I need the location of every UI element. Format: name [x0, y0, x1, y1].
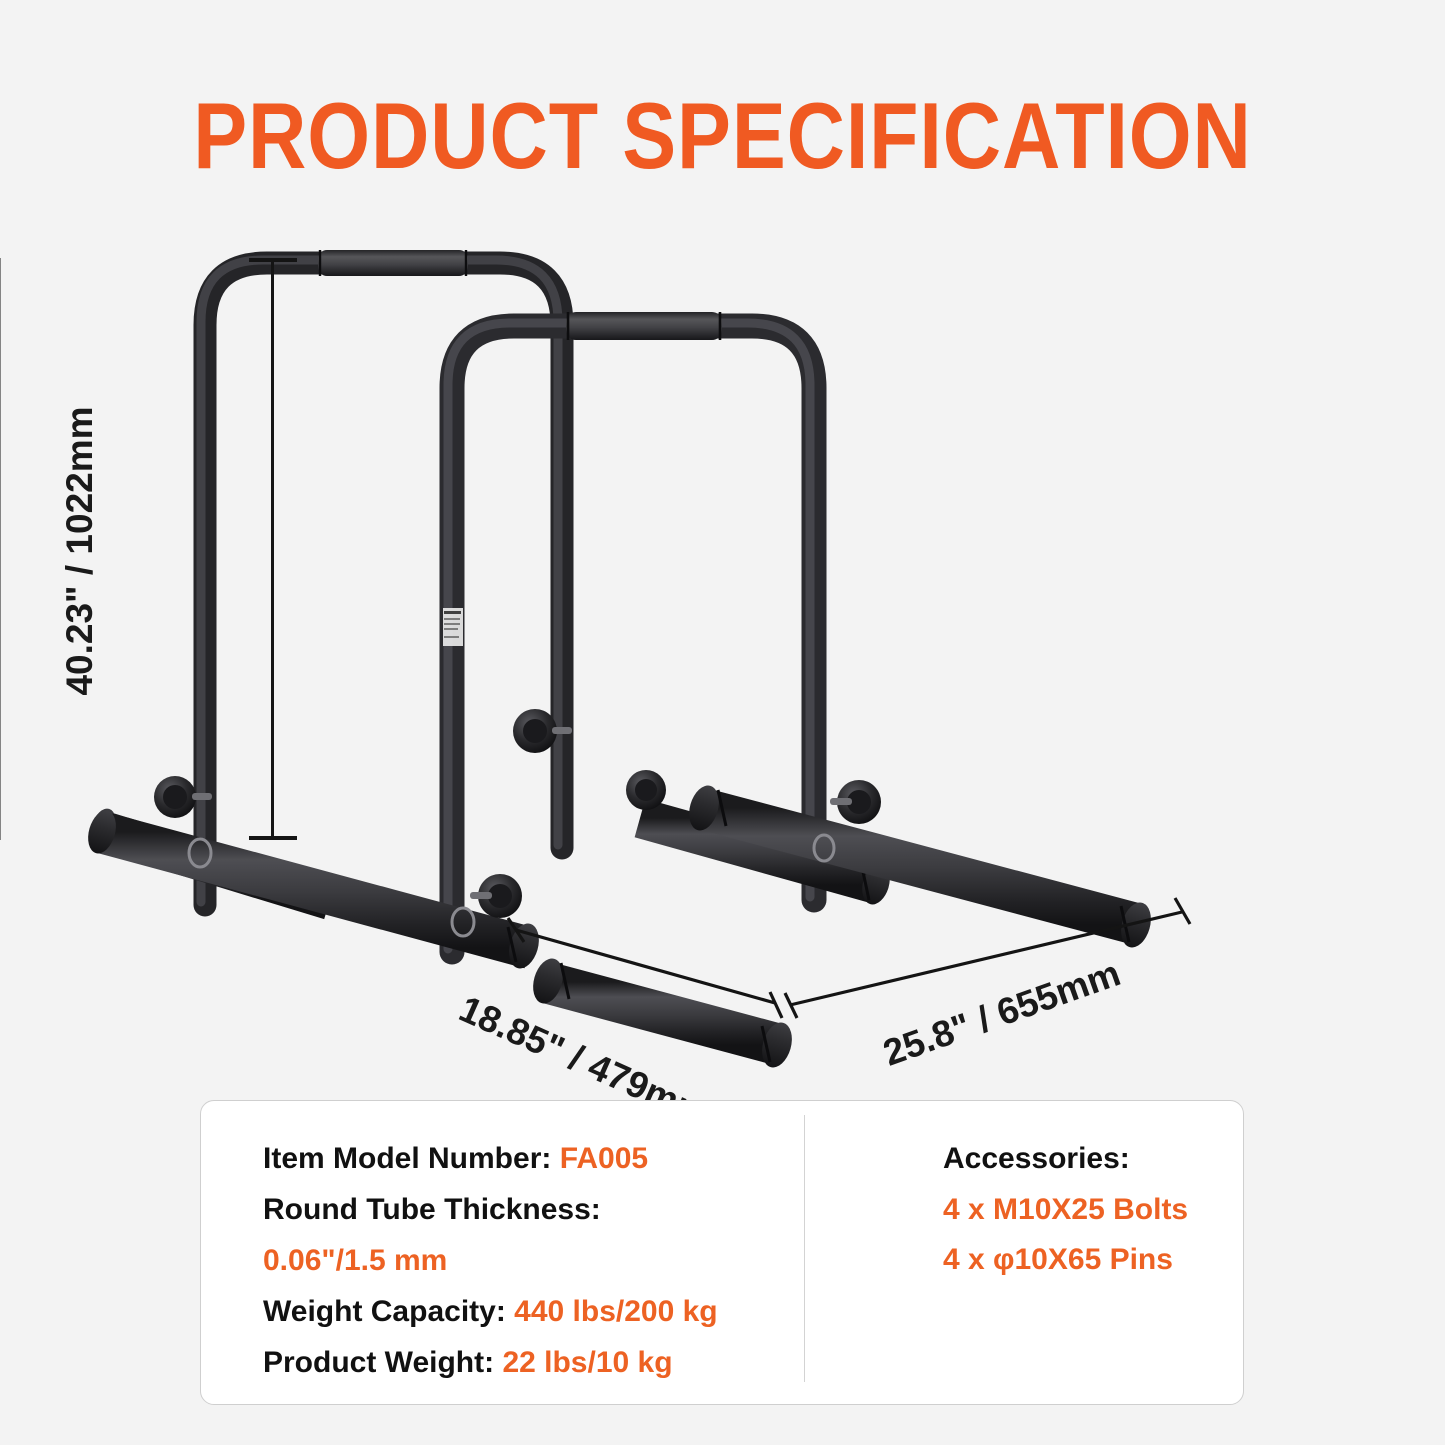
spec-label-product-weight: Product Weight:	[263, 1346, 494, 1379]
product-illustration	[0, 200, 1445, 1080]
dimension-tick-height-top	[249, 258, 297, 262]
dimension-label-height: 40.23" / 1022mm	[59, 381, 101, 721]
rear-frame-highlight	[201, 260, 558, 902]
base-foot-front-center-tube	[545, 982, 780, 1045]
base-foot-front-left	[83, 807, 543, 972]
accessories-heading: Accessories:	[943, 1133, 1243, 1185]
adjustment-knob-rear-right[interactable]	[626, 770, 666, 810]
spec-label-tube-thickness: Round Tube Thickness:	[263, 1193, 601, 1226]
dimension-rule-height	[271, 258, 274, 840]
rear-grip-sleeve	[318, 250, 468, 276]
spec-row-product-weight: Product Weight: 22 lbs/10 kg	[263, 1337, 804, 1388]
adjustment-knob-front-right[interactable]	[830, 780, 881, 824]
spec-label-model: Item Model Number:	[263, 1142, 551, 1175]
spec-row-tube-thickness-value: 0.06"/1.5 mm	[263, 1235, 804, 1286]
spec-value-product-weight: 22 lbs/10 kg	[502, 1346, 672, 1379]
spec-row-model: Item Model Number: FA005	[263, 1133, 804, 1184]
front-grip-sleeve	[566, 312, 722, 340]
spec-value-weight-capacity: 440 lbs/200 kg	[514, 1295, 717, 1328]
rear-frame-tube	[205, 263, 562, 905]
adjustment-knob-front-left-low[interactable]	[470, 874, 522, 918]
brand-sticker	[443, 608, 463, 646]
page-title: PRODUCT SPECIFICATION	[101, 88, 1344, 184]
rear-frame	[201, 250, 562, 905]
specification-card: Item Model Number: FA005 Round Tube Thic…	[200, 1100, 1244, 1405]
spec-row-tube-thickness-label: Round Tube Thickness:	[263, 1184, 804, 1235]
dimension-tick-height-bottom	[249, 836, 297, 840]
accessories-item-pins: 4 x φ10X65 Pins	[943, 1235, 1243, 1285]
product-specification-page: PRODUCT SPECIFICATION	[0, 0, 1445, 1445]
base-foot-front-left-tube	[100, 832, 530, 948]
spec-value-model: FA005	[560, 1142, 648, 1175]
spec-value-tube-thickness: 0.06"/1.5 mm	[263, 1244, 447, 1277]
specification-right-column: Accessories: 4 x M10X25 Bolts 4 x φ10X65…	[805, 1101, 1243, 1404]
dip-station-drawing	[0, 200, 1445, 1080]
spec-label-weight-capacity: Weight Capacity:	[263, 1295, 506, 1328]
spec-row-weight-capacity: Weight Capacity: 440 lbs/200 kg	[263, 1286, 804, 1337]
specification-left-column: Item Model Number: FA005 Round Tube Thic…	[201, 1101, 804, 1404]
accessories-item-bolts: 4 x M10X25 Bolts	[943, 1185, 1243, 1235]
